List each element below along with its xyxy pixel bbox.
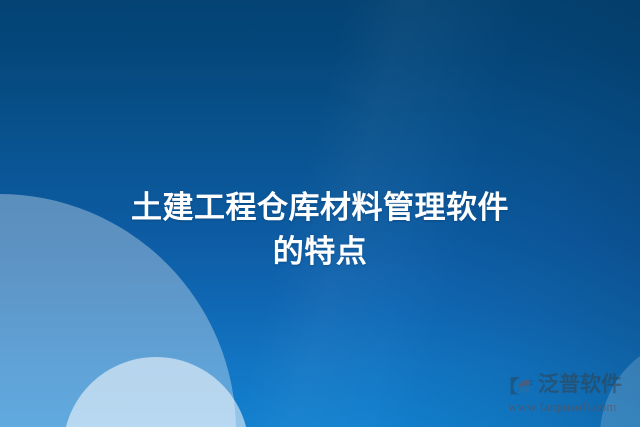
fanpu-leaf-mark-icon: [508, 372, 534, 398]
brand-name: 泛普软件: [538, 372, 622, 398]
banner-headline: 土建工程仓库材料管理软件 的特点: [0, 186, 640, 274]
brand-url: www.fanpusoft.com: [508, 399, 617, 415]
brand-logo-row: 泛普软件: [508, 372, 622, 398]
promotional-banner: 土建工程仓库材料管理软件 的特点 泛普软件 www.fanpusoft.com: [0, 0, 640, 427]
brand-watermark: 泛普软件 www.fanpusoft.com: [508, 372, 634, 418]
